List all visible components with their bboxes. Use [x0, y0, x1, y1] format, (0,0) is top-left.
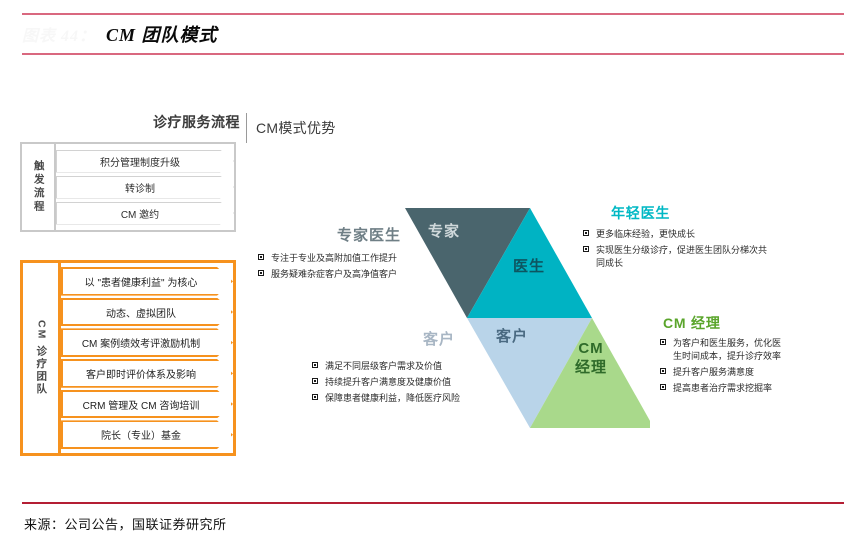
bullet-text: 服务疑难杂症客户及高净值客户: [271, 268, 397, 281]
bullet-square-icon: [660, 339, 666, 345]
bullet-item: 服务疑难杂症客户及高净值客户: [258, 268, 438, 281]
bullet-text: 实现医生分级诊疗，促进医生团队分梯次共同成长: [596, 244, 771, 270]
bullet-item: 专注于专业及高附加值工作提升: [258, 252, 438, 265]
cm-team-item[interactable]: 以 "患者健康利益" 为核心: [61, 267, 233, 296]
bullet-text: 满足不同层级客户需求及价值: [325, 360, 442, 373]
trigger-process-group: 触发流程 积分管理制度升级 转诊制 CM 邀约: [20, 142, 236, 232]
outside-label-expert-doctor: 专家医生: [337, 224, 401, 245]
cm-advantage-heading: CM模式优势: [256, 118, 336, 138]
title-rule-bottom: [22, 53, 844, 55]
cm-team-item[interactable]: 客户即时评价体系及影响: [61, 359, 233, 388]
cm-team-group-label: CM 诊疗团队: [23, 263, 61, 453]
cm-team-item[interactable]: 动态、虚拟团队: [61, 298, 233, 327]
young-doctor-heading: 年轻医生: [611, 203, 670, 223]
cm-team-item[interactable]: CRM 管理及 CM 咨询培训: [61, 390, 233, 419]
panel-divider: [246, 113, 247, 143]
figure-number: 图表 44：: [22, 22, 96, 46]
title-row: 图表 44： CM 团队模式: [22, 18, 722, 50]
bullet-item: 更多临床经验，更快成长: [583, 228, 823, 241]
cm-manager-heading: CM 经理: [663, 313, 721, 333]
bullet-square-icon: [312, 394, 318, 400]
trigger-item[interactable]: 积分管理制度升级: [56, 150, 234, 173]
expert-doctor-bullets: 专注于专业及高附加值工作提升 服务疑难杂症客户及高净值客户: [258, 252, 438, 284]
segment-label-doctor: 医生: [513, 255, 545, 276]
title-rule-top: [22, 13, 844, 15]
bullet-item: 保障患者健康利益，降低医疗风险: [312, 392, 512, 405]
page-title: CM 团队模式: [106, 21, 218, 47]
cm-manager-bullets: 为客户和医生服务，优化医生时间成本，提升诊疗效率 提升客户服务满意度 提高患者治…: [660, 337, 860, 398]
process-flow-panel: 诊疗服务流程 触发流程 积分管理制度升级 转诊制 CM 邀约 CM 诊疗团队 以…: [14, 112, 246, 457]
bullet-square-icon: [583, 230, 589, 236]
trigger-item[interactable]: CM 邀约: [56, 202, 234, 225]
bullet-text: 为客户和医生服务，优化医生时间成本，提升诊疗效率: [673, 337, 783, 363]
figure-page: 图表 44： CM 团队模式 诊疗服务流程 触发流程 积分管理制度升级 转诊制 …: [0, 0, 866, 545]
bullet-text: 保障患者健康利益，降低医疗风险: [325, 392, 460, 405]
bullet-square-icon: [258, 270, 264, 276]
bullet-item: 为客户和医生服务，优化医生时间成本，提升诊疗效率: [660, 337, 860, 363]
bullet-square-icon: [660, 368, 666, 374]
young-doctor-bullets: 更多临床经验，更快成长 实现医生分级诊疗，促进医生团队分梯次共同成长: [583, 228, 823, 273]
segment-label-client: 客户: [496, 325, 528, 346]
bullet-item: 提升客户服务满意度: [660, 366, 860, 379]
bullet-text: 持续提升客户满意度及健康价值: [325, 376, 451, 389]
bullet-square-icon: [312, 378, 318, 384]
client-bullets: 满足不同层级客户需求及价值 持续提升客户满意度及健康价值 保障患者健康利益，降低…: [312, 360, 512, 408]
bullet-text: 提高患者治疗需求挖掘率: [673, 382, 772, 395]
bullet-square-icon: [660, 384, 666, 390]
bullet-item: 满足不同层级客户需求及价值: [312, 360, 512, 373]
trigger-group-label: 触发流程: [22, 144, 56, 230]
trigger-group-rows: 积分管理制度升级 转诊制 CM 邀约: [56, 144, 234, 230]
segment-label-expert: 专家: [428, 220, 460, 241]
trigger-group-label-text: 触发流程: [32, 160, 44, 214]
bullet-text: 提升客户服务满意度: [673, 366, 754, 379]
bullet-item: 实现医生分级诊疗，促进医生团队分梯次共同成长: [583, 244, 823, 270]
trigger-item[interactable]: 转诊制: [56, 176, 234, 199]
cm-team-group: CM 诊疗团队 以 "患者健康利益" 为核心 动态、虚拟团队 CM 案例绩效考评…: [20, 260, 236, 456]
source-rule: [22, 502, 844, 504]
bullet-text: 更多临床经验，更快成长: [596, 228, 695, 241]
segment-label-cm-manager: CM经理: [575, 340, 607, 378]
bullet-item: 持续提升客户满意度及健康价值: [312, 376, 512, 389]
cm-team-group-label-text: CM 诊疗团队: [35, 320, 47, 395]
bullet-square-icon: [583, 246, 589, 252]
bullet-square-icon: [312, 362, 318, 368]
process-flow-heading: 诊疗服务流程: [153, 112, 240, 132]
bullet-text: 专注于专业及高附加值工作提升: [271, 252, 397, 265]
cm-team-item[interactable]: 院长（专业）基金: [61, 420, 233, 449]
cm-team-group-rows: 以 "患者健康利益" 为核心 动态、虚拟团队 CM 案例绩效考评激励机制 客户即…: [61, 263, 233, 453]
source-note: 来源：公司公告，国联证券研究所: [24, 514, 227, 533]
bullet-square-icon: [258, 254, 264, 260]
cm-team-item[interactable]: CM 案例绩效考评激励机制: [61, 328, 233, 357]
bullet-item: 提高患者治疗需求挖掘率: [660, 382, 860, 395]
